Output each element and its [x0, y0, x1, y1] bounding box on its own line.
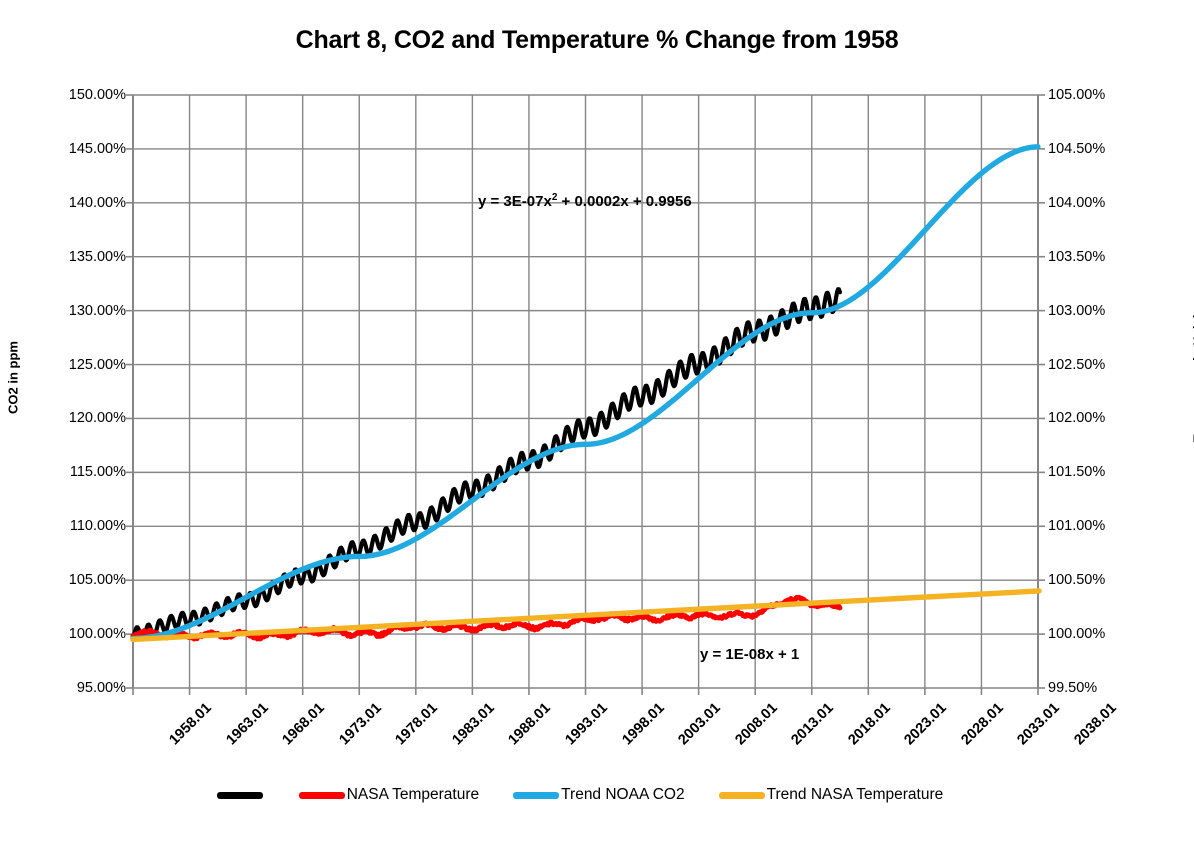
legend-trend-noaa-co2-swatch — [513, 792, 559, 799]
legend-trend-nasa-temperature[interactable]: Trend NASA Temperature — [719, 786, 944, 804]
legend-trend-noaa-co2[interactable]: Trend NOAA CO2 — [513, 786, 684, 804]
temp-trend-equation-annotation: y = 1E-08x + 1 — [700, 646, 799, 663]
legend-trend-nasa-temperature-label: Trend NASA Temperature — [767, 786, 944, 804]
plot-area — [0, 0, 1194, 858]
legend-nasa-temperature[interactable]: NASA Temperature — [299, 786, 479, 804]
legend-trend-noaa-co2-label: Trend NOAA CO2 — [561, 786, 684, 804]
legend-noaa-co2-swatch — [217, 792, 263, 799]
chart-container: Chart 8, CO2 and Temperature % Change fr… — [0, 0, 1194, 858]
legend-noaa-co2[interactable] — [217, 792, 265, 799]
legend-trend-nasa-temperature-swatch — [719, 792, 765, 799]
co2-trend-equation-annotation: y = 3E-07x2 + 0.0002x + 0.9956 — [478, 192, 692, 210]
chart-legend: NASA TemperatureTrend NOAA CO2Trend NASA… — [0, 786, 1194, 804]
legend-nasa-temperature-swatch — [299, 792, 345, 799]
series-noaa-co2 — [133, 289, 840, 639]
legend-nasa-temperature-label: NASA Temperature — [347, 786, 479, 804]
